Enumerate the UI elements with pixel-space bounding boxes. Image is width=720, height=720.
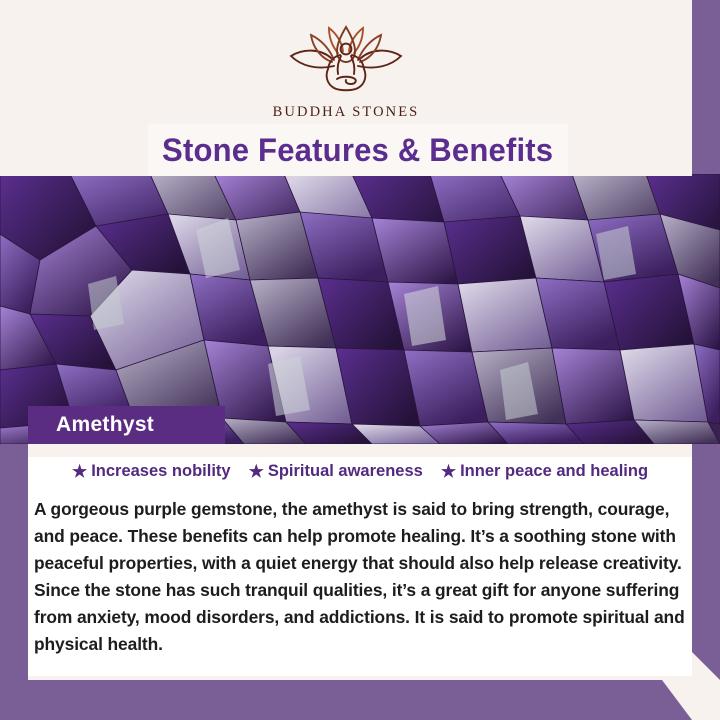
benefit-label-1: Increases nobility [91, 462, 230, 481]
poster-root: BUDDHA STONES Stone Features & Benefits [0, 0, 720, 720]
stone-name-text: Amethyst [56, 413, 154, 437]
star-icon: ★ [72, 463, 87, 480]
page-title-plate: Stone Features & Benefits [148, 124, 568, 176]
hero-image [0, 174, 720, 444]
star-icon: ★ [441, 463, 456, 480]
bottom-purple-band [0, 680, 692, 720]
brand-logo: BUDDHA STONES [0, 22, 692, 121]
benefit-label-2: Spiritual awareness [268, 462, 423, 481]
benefit-item-2: ★ Spiritual awareness [249, 462, 423, 481]
card-top-strip [28, 444, 692, 457]
star-icon: ★ [249, 463, 264, 480]
brand-name: BUDDHA STONES [273, 104, 420, 121]
content-card: ★ Increases nobility ★ Spiritual awarene… [28, 444, 692, 676]
benefits-list: ★ Increases nobility ★ Spiritual awarene… [28, 462, 692, 481]
page-title: Stone Features & Benefits [162, 132, 553, 169]
header: BUDDHA STONES Stone Features & Benefits [0, 0, 692, 176]
stone-description: A gorgeous purple gemstone, the amethyst… [34, 496, 686, 658]
benefit-item-1: ★ Increases nobility [72, 462, 231, 481]
amethyst-crystal-graphic [0, 174, 720, 444]
benefit-label-3: Inner peace and healing [460, 462, 648, 481]
lotus-meditation-icon [271, 22, 421, 100]
stone-name-label: Amethyst [28, 406, 225, 444]
benefit-item-3: ★ Inner peace and healing [441, 462, 648, 481]
